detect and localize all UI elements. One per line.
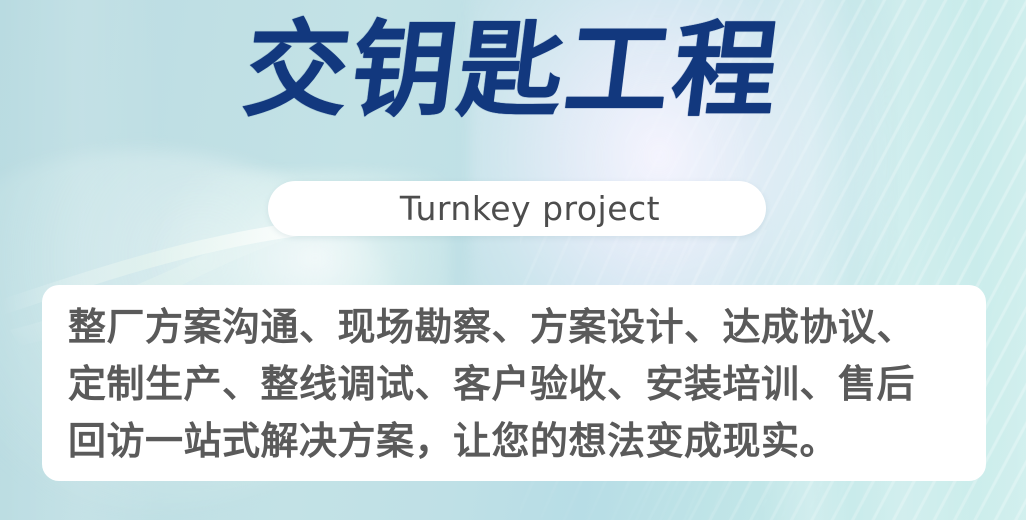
subtitle-text: Turnkey project (374, 189, 660, 228)
title-container: 交钥匙工程 (0, 16, 1026, 125)
page-title: 交钥匙工程 (239, 16, 787, 125)
description-line-2: 定制生产、整线调试、客户验收、安装培训、售后 (68, 356, 964, 413)
description-line-3: 回访一站式解决方案，让您的想法变成现实。 (68, 413, 964, 470)
turnkey-project-banner: 交钥匙工程 Turnkey project 整厂方案沟通、现场勘察、方案设计、达… (0, 0, 1026, 520)
description-line-1: 整厂方案沟通、现场勘察、方案设计、达成协议、 (68, 299, 964, 356)
subtitle-pill: Turnkey project (268, 181, 766, 236)
description-card: 整厂方案沟通、现场勘察、方案设计、达成协议、 定制生产、整线调试、客户验收、安装… (42, 285, 986, 481)
